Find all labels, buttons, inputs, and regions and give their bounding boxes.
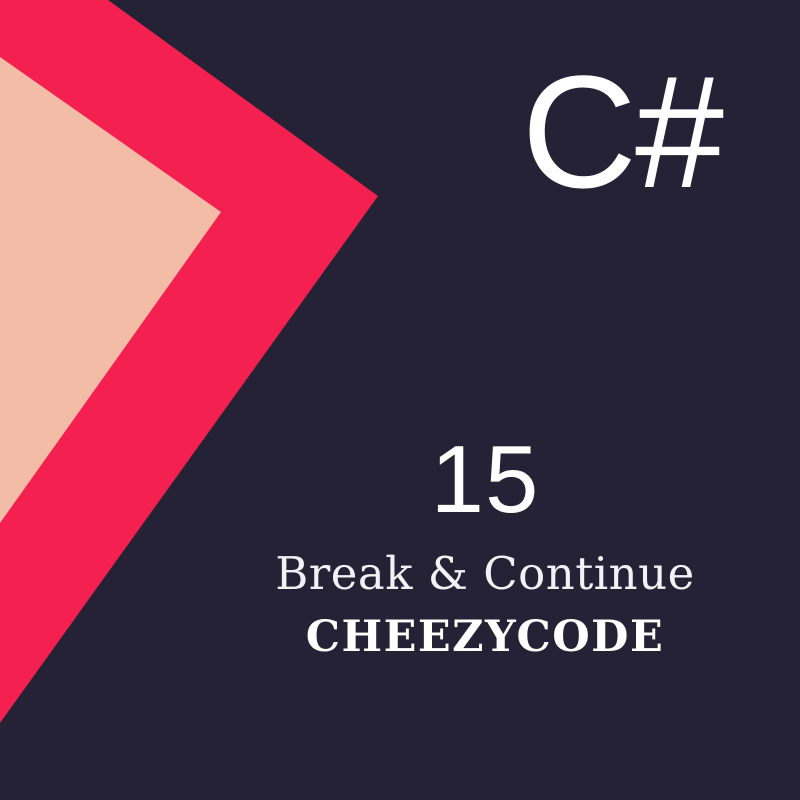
brand-name: CHEEZYCODE — [200, 614, 770, 661]
language-title: C# — [521, 52, 722, 212]
episode-topic: Break & Continue — [200, 549, 770, 599]
caption-block: 15 Break & Continue CHEEZYCODE — [200, 430, 770, 662]
episode-number: 15 — [200, 430, 770, 531]
thumbnail-canvas: C# 15 Break & Continue CHEEZYCODE — [0, 0, 800, 800]
